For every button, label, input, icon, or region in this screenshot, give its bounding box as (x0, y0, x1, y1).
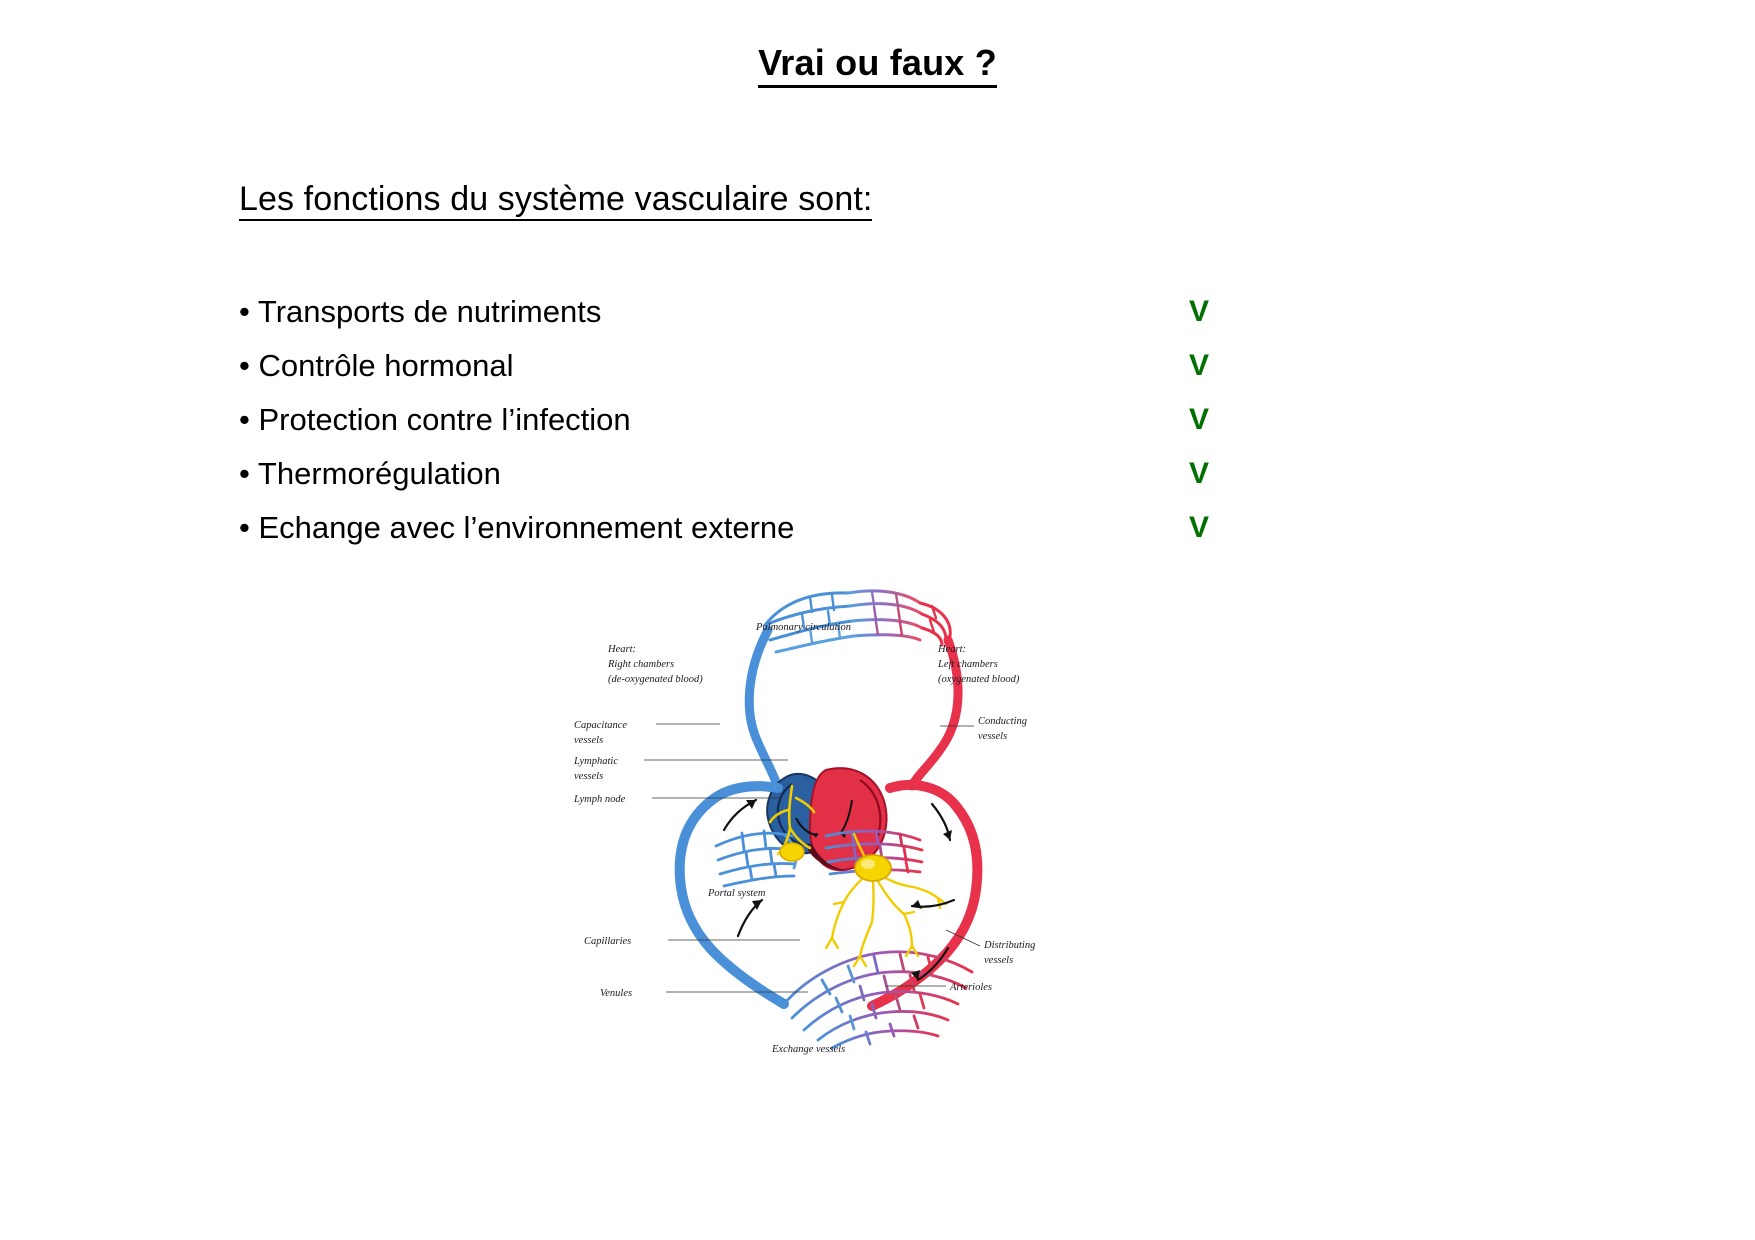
label-heart-left-1: Heart: (937, 644, 966, 655)
label-lymphatic-2: vessels (574, 771, 603, 782)
label-exchange-vessels: Exchange vessels (771, 1044, 845, 1055)
section-subtitle-text: Les fonctions du système vasculaire sont… (239, 180, 872, 221)
label-heart-right-1: Heart: (607, 644, 636, 655)
status-badge-true: V (1189, 339, 1209, 393)
pulmonary-artery-vessel (749, 630, 778, 788)
status-badge-true: V (1189, 447, 1209, 501)
list-item: • Contrôle hormonal V (239, 339, 1499, 393)
list-item-label: • Contrôle hormonal (239, 349, 514, 383)
label-capacitance-1: Capacitance (574, 720, 627, 731)
list-item: • Echange avec l’environnement externe V (239, 501, 1499, 555)
label-distributing-2: vessels (984, 955, 1013, 966)
lymph-node-upper (780, 843, 804, 861)
section-subtitle: Les fonctions du système vasculaire sont… (239, 180, 872, 219)
slide-canvas: Vrai ou faux ? Les fonctions du système … (0, 0, 1755, 1240)
label-conducting-1: Conducting (978, 716, 1027, 727)
page-title: Vrai ou faux ? (0, 42, 1755, 84)
status-badge-true: V (1189, 393, 1209, 447)
list-item-label: • Echange avec l’environnement externe (239, 511, 794, 545)
label-lymphatic-1: Lymphatic (573, 756, 618, 767)
label-heart-right-3: (de-oxygenated blood) (608, 674, 703, 685)
lymph-node-highlight (861, 859, 875, 869)
label-venules: Venules (600, 988, 632, 999)
lymph-node-lower (855, 855, 891, 881)
list-item-label: • Transports de nutriments (239, 295, 601, 329)
list-item-label: • Thermorégulation (239, 457, 501, 491)
list-item: • Thermorégulation V (239, 447, 1499, 501)
label-distributing-1: Distributing (983, 940, 1035, 951)
list-item: • Protection contre l’infection V (239, 393, 1499, 447)
label-pulmonary-circulation: Pulmonary circulation (755, 622, 851, 633)
label-heart-right-2: Right chambers (607, 659, 674, 670)
status-badge-true: V (1189, 501, 1209, 555)
list-item: • Transports de nutriments V (239, 285, 1499, 339)
label-portal-system: Portal system (707, 888, 766, 899)
label-heart-left-2: Left chambers (937, 659, 998, 670)
vascular-system-diagram: Pulmonary circulation Heart: Right chamb… (560, 548, 1080, 1068)
label-arterioles: Arterioles (949, 982, 992, 993)
label-heart-left-3: (oxygenated blood) (938, 674, 1020, 685)
list-item-label: • Protection contre l’infection (239, 403, 631, 437)
status-badge-true: V (1189, 285, 1209, 339)
page-title-text: Vrai ou faux ? (758, 42, 997, 88)
label-capacitance-2: vessels (574, 735, 603, 746)
label-conducting-2: vessels (978, 731, 1007, 742)
label-lymph-node: Lymph node (573, 794, 626, 805)
label-capillaries: Capillaries (584, 936, 631, 947)
functions-list: • Transports de nutriments V • Contrôle … (239, 285, 1499, 555)
